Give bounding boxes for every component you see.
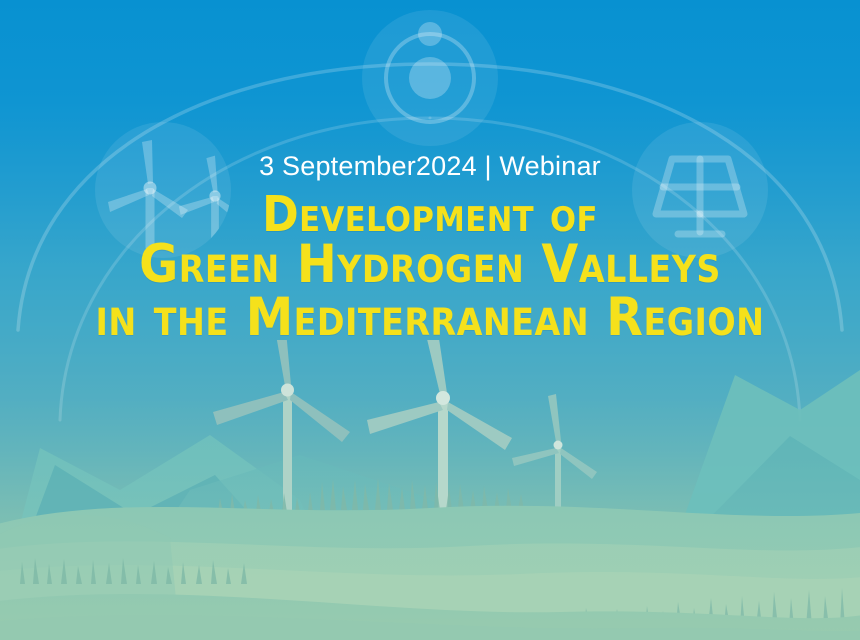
mountain-far-left bbox=[0, 435, 360, 640]
hill-bump-center bbox=[470, 530, 700, 640]
hill-band-2 bbox=[0, 541, 860, 640]
event-subtitle: 3 September2024 | Webinar bbox=[0, 0, 860, 182]
wind-farm-landscape bbox=[0, 340, 860, 640]
webinar-poster: 3 September2024 | Webinar Development of… bbox=[0, 0, 860, 640]
mound-left bbox=[0, 515, 180, 640]
wind-turbine-center bbox=[213, 340, 350, 530]
title-line-3: in the Mediterranean Region bbox=[0, 292, 860, 344]
mountain-mid bbox=[90, 455, 600, 640]
mountain-far-right bbox=[640, 370, 860, 640]
title-line-2: Green Hydrogen Valleys bbox=[0, 239, 860, 291]
poster-text-block: 3 September2024 | Webinar Development of… bbox=[0, 0, 860, 344]
wind-turbine-far bbox=[512, 394, 597, 545]
page-title: Development of Green Hydrogen Valleys in… bbox=[0, 182, 860, 344]
foreground-field bbox=[0, 594, 860, 640]
mountain-dark-right bbox=[790, 430, 860, 640]
mountain-ridge-left bbox=[0, 465, 330, 640]
foreground-edge bbox=[0, 615, 860, 640]
mountain-slope-right bbox=[590, 436, 860, 640]
grass-tufts-upper bbox=[218, 478, 524, 512]
hill-band-3 bbox=[0, 565, 860, 640]
title-line-1: Development of bbox=[0, 191, 860, 240]
hill-band-1 bbox=[0, 506, 860, 640]
wind-turbine-right bbox=[367, 340, 512, 548]
grass-tufts-lower-right bbox=[570, 588, 845, 626]
grass-tufts-lower bbox=[20, 558, 247, 584]
